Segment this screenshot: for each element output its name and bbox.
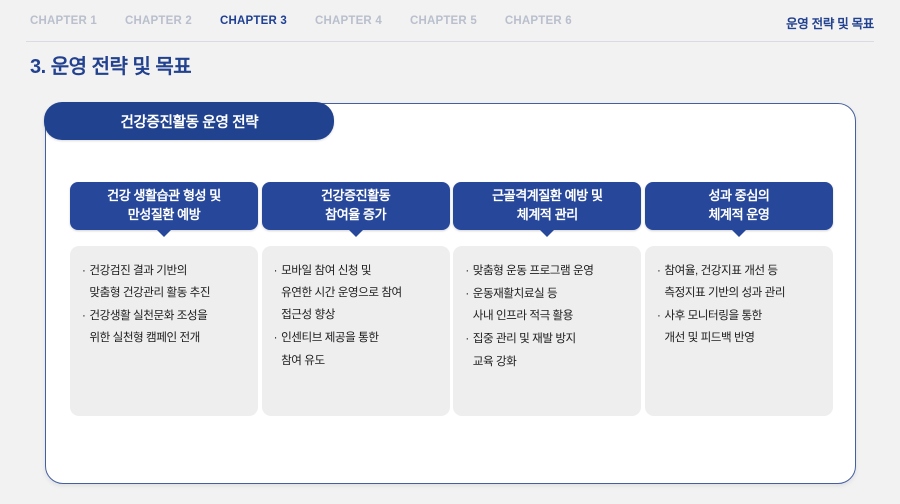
- column-body-2: ·모바일 참여 신청 및유연한 시간 운영으로 참여접근성 향상·인센티브 제공…: [262, 246, 450, 416]
- column-header-line1-4: 성과 중심의: [708, 187, 769, 206]
- bullet-text: 건강검진 결과 기반의맞춤형 건강관리 활동 추진: [89, 260, 246, 305]
- chapter-tab-5[interactable]: CHAPTER 5: [410, 15, 477, 27]
- column-header-line2-4: 체계적 운영: [708, 206, 769, 225]
- bullet-dot-icon: ·: [82, 260, 85, 282]
- strategy-column-3: 근골격계질환 예방 및체계적 관리·맞춤형 운동 프로그램 운영·운동재활치료실…: [453, 182, 641, 416]
- bullet-text: 맞춤형 운동 프로그램 운영: [473, 260, 630, 282]
- bullet-line1: 사후 모니터링을 통한: [664, 305, 821, 327]
- column-header-wrap-2: 건강증진활동참여율 증가: [262, 182, 450, 230]
- column-notch-icon-1: [156, 229, 172, 237]
- chapter-tab-2[interactable]: CHAPTER 2: [125, 15, 192, 27]
- strategy-banner: 건강증진활동 운영 전략: [44, 102, 334, 140]
- bullet-line2: 맞춤형 건강관리 활동 추진: [89, 282, 246, 304]
- column-header-3: 근골격계질환 예방 및체계적 관리: [453, 182, 641, 230]
- column-header-line1-1: 건강 생활습관 형성 및: [107, 187, 221, 206]
- column-header-wrap-1: 건강 생활습관 형성 및만성질환 예방: [70, 182, 258, 230]
- strategy-card: 건강증진활동 운영 전략 건강 생활습관 형성 및만성질환 예방·건강검진 결과…: [45, 103, 856, 484]
- bullet-text: 참여율, 건강지표 개선 등측정지표 기반의 성과 관리: [664, 260, 821, 305]
- chapter-tab-6[interactable]: CHAPTER 6: [505, 15, 572, 27]
- bullet-text: 모바일 참여 신청 및유연한 시간 운영으로 참여접근성 향상: [281, 260, 438, 327]
- column-header-line2-2: 참여율 증가: [321, 206, 390, 225]
- column-body-1: ·건강검진 결과 기반의맞춤형 건강관리 활동 추진·건강생활 실천문화 조성을…: [70, 246, 258, 416]
- list-item: ·건강생활 실천문화 조성을위한 실천형 캠페인 전개: [82, 305, 246, 350]
- bullet-dot-icon: ·: [82, 305, 85, 327]
- bullet-line1: 모바일 참여 신청 및: [281, 260, 438, 282]
- nav-divider: [26, 41, 874, 42]
- chapter-nav: CHAPTER 1CHAPTER 2CHAPTER 3CHAPTER 4CHAP…: [0, 0, 900, 42]
- list-item: ·운동재활치료실 등사내 인프라 적극 활용: [465, 283, 629, 328]
- bullet-line2: 개선 및 피드백 반영: [664, 327, 821, 349]
- list-item: ·집중 관리 및 재발 방지교육 강화: [465, 328, 629, 373]
- list-item: ·모바일 참여 신청 및유연한 시간 운영으로 참여접근성 향상: [274, 260, 438, 327]
- chapter-list: CHAPTER 1CHAPTER 2CHAPTER 3CHAPTER 4CHAP…: [30, 15, 572, 27]
- bullet-text: 집중 관리 및 재발 방지교육 강화: [473, 328, 630, 373]
- bullet-dot-icon: ·: [274, 327, 277, 349]
- bullet-dot-icon: ·: [657, 305, 660, 327]
- bullet-dot-icon: ·: [657, 260, 660, 282]
- column-header-2: 건강증진활동참여율 증가: [262, 182, 450, 230]
- bullet-line1: 맞춤형 운동 프로그램 운영: [473, 260, 630, 282]
- strategy-column-2: 건강증진활동참여율 증가·모바일 참여 신청 및유연한 시간 운영으로 참여접근…: [262, 182, 450, 416]
- nav-right-label: 운영 전략 및 목표: [786, 13, 874, 32]
- column-header-wrap-4: 성과 중심의체계적 운영: [645, 182, 833, 230]
- bullet-line1: 인센티브 제공을 통한: [281, 327, 438, 349]
- bullet-dot-icon: ·: [465, 328, 468, 350]
- bullet-line2: 사내 인프라 적극 활용: [473, 305, 630, 327]
- column-body-4: ·참여율, 건강지표 개선 등측정지표 기반의 성과 관리·사후 모니터링을 통…: [645, 246, 833, 416]
- list-item: ·사후 모니터링을 통한개선 및 피드백 반영: [657, 305, 821, 350]
- chapter-tab-1[interactable]: CHAPTER 1: [30, 15, 97, 27]
- bullet-text: 인센티브 제공을 통한참여 유도: [281, 327, 438, 372]
- bullet-line2: 위한 실천형 캠페인 전개: [89, 327, 246, 349]
- bullet-line1: 집중 관리 및 재발 방지: [473, 328, 630, 350]
- bullet-line2: 참여 유도: [281, 350, 438, 372]
- slide-root: CHAPTER 1CHAPTER 2CHAPTER 3CHAPTER 4CHAP…: [0, 0, 900, 504]
- bullet-text: 운동재활치료실 등사내 인프라 적극 활용: [473, 283, 630, 328]
- column-body-3: ·맞춤형 운동 프로그램 운영·운동재활치료실 등사내 인프라 적극 활용·집중…: [453, 246, 641, 416]
- column-header-line2-3: 체계적 관리: [492, 206, 602, 225]
- column-header-line1-3: 근골격계질환 예방 및: [492, 187, 602, 206]
- column-header-line1-2: 건강증진활동: [321, 187, 390, 206]
- column-notch-icon-4: [731, 229, 747, 237]
- bullet-line3: 접근성 향상: [281, 304, 438, 326]
- page-title: 3. 운영 전략 및 목표: [30, 50, 191, 79]
- bullet-text: 건강생활 실천문화 조성을위한 실천형 캠페인 전개: [89, 305, 246, 350]
- bullet-line2: 유연한 시간 운영으로 참여: [281, 282, 438, 304]
- bullet-line1: 참여율, 건강지표 개선 등: [664, 260, 821, 282]
- chapter-tab-3[interactable]: CHAPTER 3: [220, 15, 287, 27]
- bullet-line1: 운동재활치료실 등: [473, 283, 630, 305]
- list-item: ·건강검진 결과 기반의맞춤형 건강관리 활동 추진: [82, 260, 246, 305]
- strategy-column-1: 건강 생활습관 형성 및만성질환 예방·건강검진 결과 기반의맞춤형 건강관리 …: [70, 182, 258, 416]
- column-header-line2-1: 만성질환 예방: [107, 206, 221, 225]
- column-header-wrap-3: 근골격계질환 예방 및체계적 관리: [453, 182, 641, 230]
- bullet-text: 사후 모니터링을 통한개선 및 피드백 반영: [664, 305, 821, 350]
- strategy-column-4: 성과 중심의체계적 운영·참여율, 건강지표 개선 등측정지표 기반의 성과 관…: [645, 182, 833, 416]
- column-notch-icon-3: [539, 229, 555, 237]
- bullet-line2: 측정지표 기반의 성과 관리: [664, 282, 821, 304]
- list-item: ·맞춤형 운동 프로그램 운영: [465, 260, 629, 282]
- list-item: ·참여율, 건강지표 개선 등측정지표 기반의 성과 관리: [657, 260, 821, 305]
- bullet-dot-icon: ·: [465, 283, 468, 305]
- bullet-line1: 건강검진 결과 기반의: [89, 260, 246, 282]
- column-header-1: 건강 생활습관 형성 및만성질환 예방: [70, 182, 258, 230]
- list-item: ·인센티브 제공을 통한참여 유도: [274, 327, 438, 372]
- chapter-tab-4[interactable]: CHAPTER 4: [315, 15, 382, 27]
- column-header-4: 성과 중심의체계적 운영: [645, 182, 833, 230]
- bullet-dot-icon: ·: [465, 260, 468, 282]
- bullet-line2: 교육 강화: [473, 351, 630, 373]
- column-notch-icon-2: [348, 229, 364, 237]
- bullet-line1: 건강생활 실천문화 조성을: [89, 305, 246, 327]
- bullet-dot-icon: ·: [274, 260, 277, 282]
- strategy-columns: 건강 생활습관 형성 및만성질환 예방·건강검진 결과 기반의맞춤형 건강관리 …: [46, 182, 857, 416]
